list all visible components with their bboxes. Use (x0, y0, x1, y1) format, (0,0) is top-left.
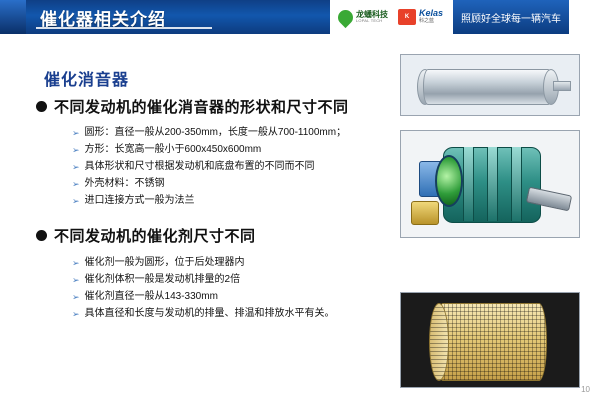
honeycomb-front-face (429, 303, 449, 381)
muffler-photo (400, 54, 580, 116)
list-item: ➢ 进口连接方式一般为法兰 (72, 194, 346, 208)
header-tagline: 照顾好全球每一辆汽车 (453, 0, 569, 34)
arrow-bullet-icon: ➢ (72, 256, 80, 270)
logo-lopal-en: LOPAL TECH (356, 19, 388, 23)
logo-kelas-cn: 科之蓝 (419, 19, 443, 25)
slide: 催化器相关介绍 龙蟠科技 LOPAL TECH K Kelas 科之蓝 照顾好全… (0, 0, 600, 400)
arrow-bullet-icon: ➢ (72, 290, 80, 304)
list-item: ➢ 外壳材料：不锈钢 (72, 177, 346, 191)
title-underline (36, 27, 212, 29)
logo-zone: 龙蟠科技 LOPAL TECH K Kelas 科之蓝 照顾好全球每一辆汽车 (330, 0, 600, 34)
bullet-dot-icon (36, 230, 47, 241)
arrow-bullet-icon: ➢ (72, 177, 80, 191)
section-title: 催化消音器 (44, 66, 129, 90)
arrow-bullet-icon: ➢ (72, 307, 80, 321)
honeycomb-body (435, 303, 547, 381)
list-item: ➢ 具体直径和长度与发动机的排量、排温和排放水平有关。 (72, 307, 335, 321)
converter-band-3 (511, 147, 522, 221)
list-item: ➢ 催化剂体积一般是发动机排量的2倍 (72, 273, 335, 287)
arrow-bullet-icon: ➢ (72, 160, 80, 174)
honeycomb-substrate-render (400, 292, 580, 388)
leaf-icon (335, 6, 356, 27)
kelas-mark-icon: K (398, 9, 416, 25)
bullet-heading-1: 不同发动机的催化消音器的形状和尺寸不同 (36, 96, 349, 117)
bullet-heading-1-text: 不同发动机的催化消音器的形状和尺寸不同 (54, 96, 349, 117)
sub-list-1: ➢ 圆形：直径一般从200-350mm，长度一般从700-1100mm； ➢ 方… (72, 126, 346, 211)
arrow-bullet-icon: ➢ (72, 273, 80, 287)
bullet-heading-2: 不同发动机的催化剂尺寸不同 (36, 225, 256, 246)
page-number: 10 (581, 385, 590, 394)
logo-kelas: K Kelas 科之蓝 (398, 9, 443, 25)
bullet-dot-icon (36, 101, 47, 112)
muffler-body (423, 69, 553, 105)
list-item: ➢ 催化剂一般为圆形，位于后处理器内 (72, 256, 335, 270)
header-accent-bar (0, 0, 26, 34)
arrow-bullet-icon: ➢ (72, 194, 80, 208)
converter-inlet-face (435, 155, 463, 207)
converter-band-1 (463, 147, 474, 221)
catalytic-converter-render (400, 130, 580, 238)
slide-header: 催化器相关介绍 龙蟠科技 LOPAL TECH K Kelas 科之蓝 照顾好全… (0, 0, 600, 34)
list-item: ➢ 圆形：直径一般从200-350mm，长度一般从700-1100mm； (72, 126, 346, 140)
bullet-heading-2-text: 不同发动机的催化剂尺寸不同 (54, 225, 256, 246)
muffler-outlet-pipe (553, 81, 571, 91)
arrow-bullet-icon: ➢ (72, 126, 80, 140)
logo-lopal: 龙蟠科技 LOPAL TECH (338, 10, 388, 25)
slide-body: 催化消音器 不同发动机的催化消音器的形状和尺寸不同 ➢ 圆形：直径一般从200-… (0, 34, 600, 400)
converter-band-2 (487, 147, 498, 221)
list-item: ➢ 具体形状和尺寸根据发动机和底盘布置的不同而不同 (72, 160, 346, 174)
arrow-bullet-icon: ➢ (72, 143, 80, 157)
converter-mount-bracket (411, 201, 439, 225)
list-item: ➢ 催化剂直径一般从143-330mm (72, 290, 335, 304)
list-item: ➢ 方形：长宽高一般小于600x450x600mm (72, 143, 346, 157)
sub-list-2: ➢ 催化剂一般为圆形，位于后处理器内 ➢ 催化剂体积一般是发动机排量的2倍 ➢ … (72, 256, 335, 324)
